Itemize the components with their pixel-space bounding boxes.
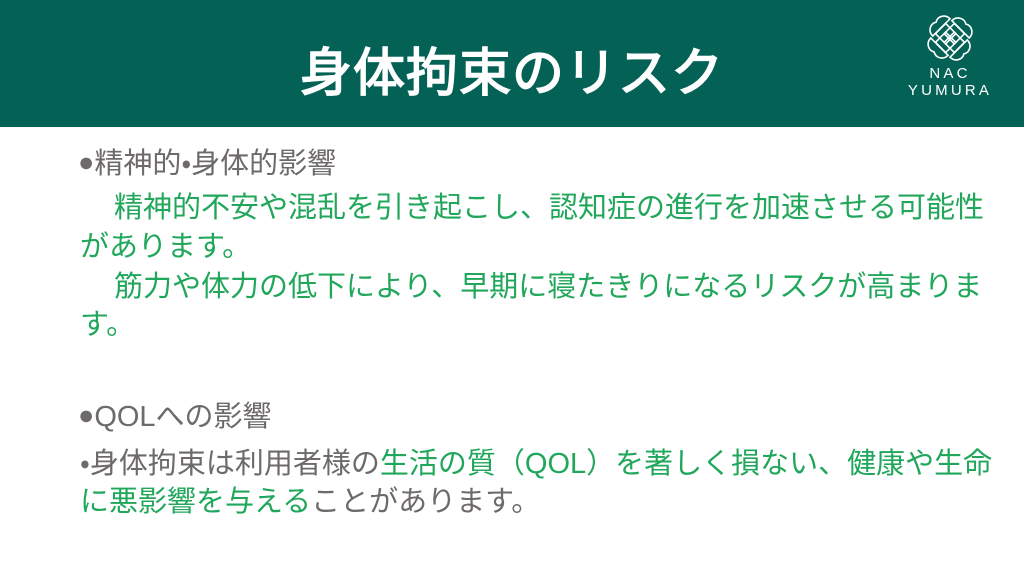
section-1-heading-label: 精神的・身体的影響: [94, 148, 336, 180]
page-title: 身体拘束のリスク: [0, 0, 1024, 127]
section-2-paragraph-1: ・身体拘束は利用者様の生活の質（QOL）を著しく損ない、健康や生命に悪影響を与え…: [80, 445, 996, 522]
section-2-heading-label: QOLへの影響: [94, 401, 271, 433]
section-2-heading: ●QOLへの影響: [78, 398, 996, 436]
slide: 身体拘束のリスク NAC YUMURA: [0, 0, 1024, 576]
logo: NAC YUMURA: [890, 14, 1010, 114]
logo-line-nac: NAC: [908, 66, 992, 83]
section-2-text-part-1: 身体拘束は利用者様の: [90, 448, 380, 480]
section-1-paragraph-2: 筋力や体力の低下により、早期に寝たきりになるリスクが高まります。: [80, 268, 996, 345]
slide-header: 身体拘束のリスク NAC YUMURA: [0, 0, 1024, 127]
section-spacer: [80, 346, 996, 398]
nac-yumura-clover-emblem-icon: [924, 14, 976, 62]
section-1-paragraph-1: 精神的不安や混乱を引き起こし、認知症の進行を加速させる可能性があります。: [80, 189, 996, 266]
bullet-icon: ●: [78, 147, 94, 177]
logo-line-yumura: YUMURA: [908, 83, 992, 100]
section-2-text-part-3: ことがあります。: [311, 486, 540, 518]
list-marker-icon: ・: [80, 448, 90, 480]
logo-wordmark: NAC YUMURA: [908, 66, 992, 100]
slide-body: ●精神的・身体的影響 精神的不安や混乱を引き起こし、認知症の進行を加速させる可能…: [0, 127, 1024, 576]
bullet-icon: ●: [78, 400, 94, 430]
section-1-heading: ●精神的・身体的影響: [78, 145, 996, 183]
